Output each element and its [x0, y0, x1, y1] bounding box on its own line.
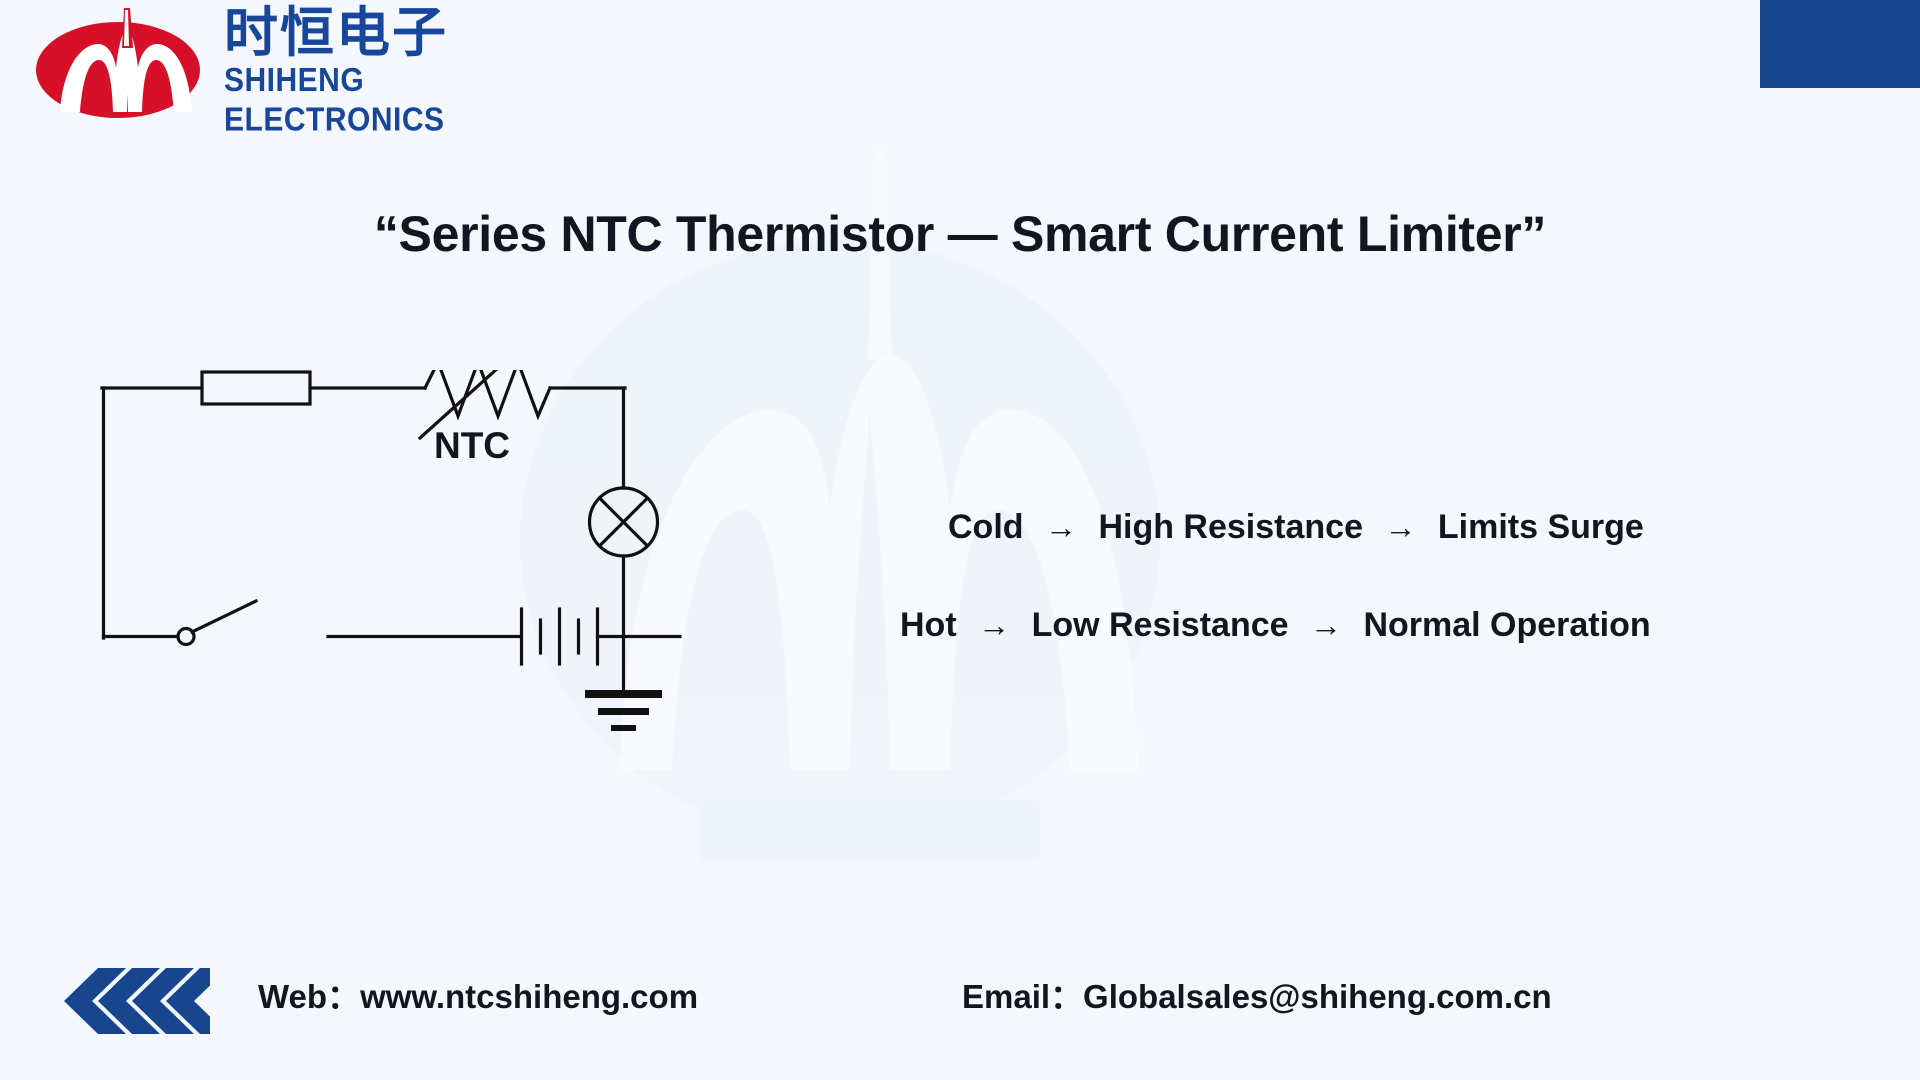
arrow-right-icon: → — [1033, 511, 1089, 543]
footer-email[interactable]: Email：Globalsales@shiheng.com.cn — [962, 970, 1552, 1018]
statement-hot: Hot → Low Resistance → Normal Operation — [900, 608, 1860, 642]
statement-cold-condition: Cold — [948, 508, 1024, 546]
statement-hot-result: Normal Operation — [1363, 606, 1650, 644]
chevron-left-group-icon — [50, 968, 210, 1034]
page-title: “Series NTC Thermistor — Smart Current L… — [0, 205, 1920, 263]
ground-bar-1 — [585, 690, 662, 698]
fuse-symbol — [202, 372, 310, 404]
ground-bar-3 — [611, 725, 636, 731]
arrow-right-icon: → — [966, 609, 1022, 641]
ground-bar-2 — [598, 708, 649, 715]
shiheng-logo-mark — [30, 8, 210, 128]
corner-accent-block — [1760, 0, 1920, 88]
statement-hot-condition: Hot — [900, 606, 957, 644]
logo-english-name: SHIHENG ELECTRONICS — [224, 62, 540, 139]
infographic-page: 时恒电子 SHIHENG ELECTRONICS “Series NTC The… — [0, 0, 1920, 1080]
footer: Web：www.ntcshiheng.com Email：Globalsales… — [0, 962, 1920, 1038]
circuit-diagram: NTC — [80, 370, 820, 890]
arrow-right-icon: → — [1372, 511, 1428, 543]
statement-cold: Cold → High Resistance → Limits Surge — [948, 510, 1860, 544]
statement-hot-effect: Low Resistance — [1032, 606, 1289, 644]
logo-chinese-name: 时恒电子 — [224, 5, 540, 62]
statement-cold-result: Limits Surge — [1438, 508, 1644, 546]
ntc-label: NTC — [434, 425, 510, 466]
statement-cold-effect: High Resistance — [1098, 508, 1363, 546]
behaviour-statements: Cold → High Resistance → Limits Surge Ho… — [880, 510, 1860, 642]
brand-logo: 时恒电子 SHIHENG ELECTRONICS — [30, 8, 540, 128]
footer-email-value[interactable]: Globalsales@shiheng.com.cn — [1083, 978, 1552, 1015]
switch-lever — [192, 601, 256, 632]
footer-email-label: Email： — [962, 978, 1083, 1015]
footer-web-value[interactable]: www.ntcshiheng.com — [360, 978, 698, 1015]
footer-web-label: Web： — [258, 978, 360, 1015]
arrow-right-icon: → — [1298, 609, 1354, 641]
footer-website[interactable]: Web：www.ntcshiheng.com — [258, 970, 698, 1018]
